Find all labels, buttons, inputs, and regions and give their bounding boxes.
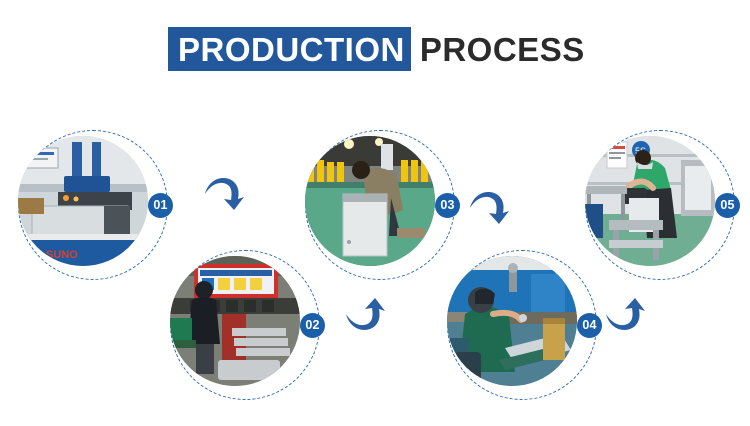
process-step-01[interactable]: SUNO 01 xyxy=(18,130,168,280)
process-step-05[interactable]: 5S 05 xyxy=(585,130,735,280)
process-step-04[interactable]: 04 xyxy=(447,250,597,400)
arrow-step-1-to-2-icon xyxy=(203,172,247,212)
process-step-02[interactable]: 02 xyxy=(170,250,320,400)
step-photo-finishing-inspection: 5S xyxy=(585,136,715,266)
arrow-step-2-to-3-icon xyxy=(344,296,388,336)
production-process-infographic: PRODUCTION PROCESS SUNO 01 xyxy=(0,0,750,426)
step-number-badge: 04 xyxy=(577,313,602,338)
step-photo-bending xyxy=(170,256,300,386)
page-title: PRODUCTION PROCESS xyxy=(168,27,585,71)
step-number-badge: 03 xyxy=(435,193,460,218)
arrow-step-4-to-5-icon xyxy=(604,296,648,336)
step-number-badge: 02 xyxy=(300,313,325,338)
step-photo-laser-cutting: SUNO xyxy=(18,136,148,266)
page-title-plain-text: PROCESS xyxy=(420,33,585,66)
step-number-badge: 01 xyxy=(148,193,173,218)
page-title-plain: PROCESS xyxy=(411,27,585,71)
page-title-highlight-text: PRODUCTION xyxy=(178,33,405,66)
page-title-highlight: PRODUCTION xyxy=(168,27,411,71)
step-photo-assembly xyxy=(305,136,435,266)
step-photo-welding xyxy=(447,256,577,386)
arrow-step-3-to-4-icon xyxy=(468,186,512,226)
process-step-03[interactable]: 03 xyxy=(305,130,455,280)
step-number-badge: 05 xyxy=(715,193,740,218)
